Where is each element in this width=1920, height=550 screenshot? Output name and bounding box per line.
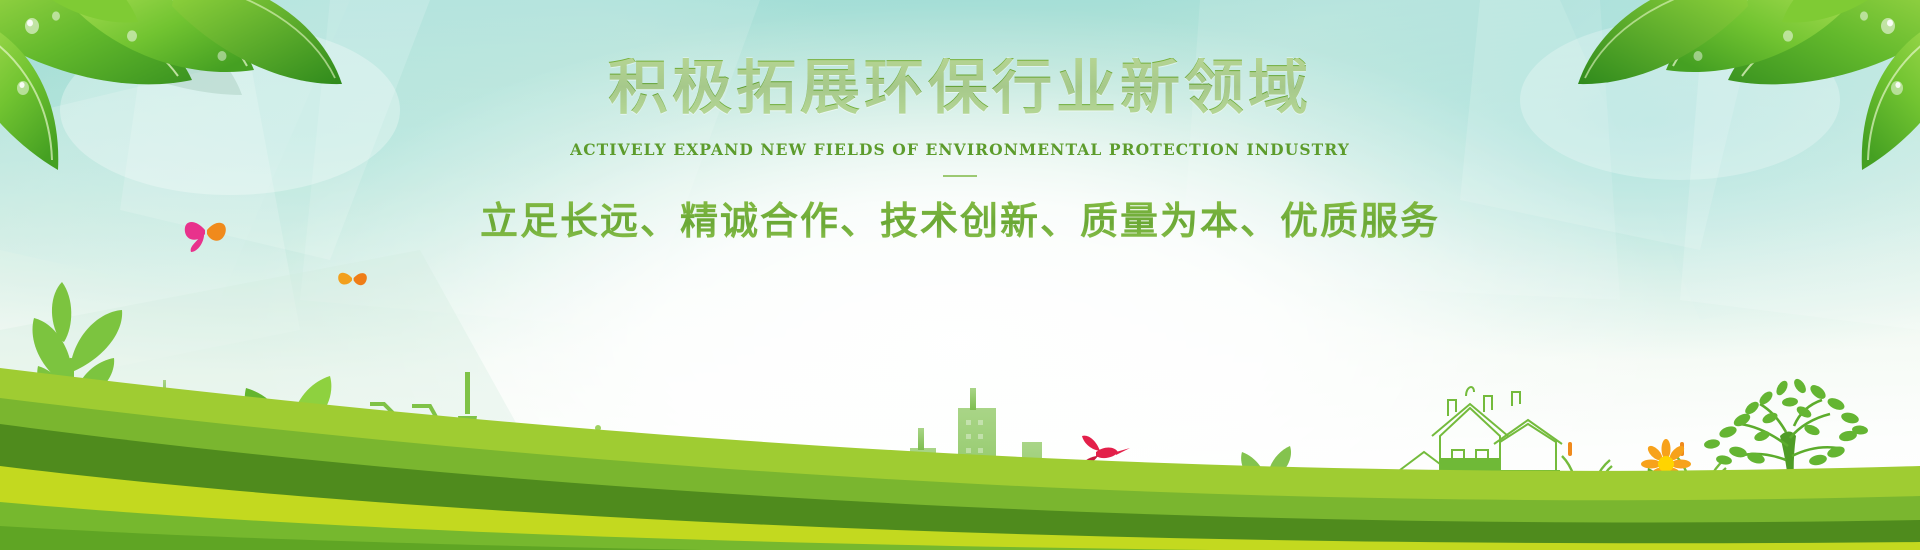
wave-band-dark-green: [0, 424, 1920, 550]
city-skyline-silhouette: [1130, 482, 1400, 550]
building-window-icon: [916, 420, 983, 479]
city-skyline-silhouette: [736, 388, 1130, 550]
tree-icon: [1703, 377, 1868, 512]
banner-text-block: 积极拓展环保行业新领域 ACTIVELY EXPAND NEW FIELDS O…: [0, 0, 1920, 243]
grass-icon: [1562, 456, 1726, 512]
cattail-icon: [1568, 442, 1684, 456]
oriental-pearl-tower-icon: [446, 372, 490, 550]
ladybug-icon: [819, 527, 835, 538]
scenery-layer: [0, 220, 1920, 550]
flower-icon: [700, 513, 724, 550]
wave-band-yellow-green: [0, 466, 1920, 550]
wave-band-light-green: [0, 368, 1920, 550]
wave-band-base-green: [0, 502, 1920, 550]
wave-band-bottom: [0, 526, 1920, 550]
butterfly-icon: [338, 273, 367, 285]
house-icon: [1400, 387, 1600, 510]
grass-icon: [86, 452, 150, 520]
sprout-icon: [33, 282, 123, 520]
flower-icon: [676, 505, 700, 529]
banner-headline: 积极拓展环保行业新领域: [0, 58, 1920, 118]
sprout-icon: [1241, 446, 1291, 520]
wave-band-mid-green: [0, 398, 1920, 550]
grass-icon: [543, 425, 629, 550]
city-skyline-silhouette: [1606, 486, 1698, 510]
wave-bands: [0, 320, 1920, 550]
grass-icon: [188, 434, 227, 520]
flower-icon: [1616, 489, 1634, 508]
city-skyline-silhouette: [492, 468, 618, 550]
headline-divider: [943, 175, 977, 177]
sunflower-icon: [1641, 439, 1691, 512]
bicycle-icon: [330, 404, 486, 506]
sprout-icon: [245, 376, 332, 520]
eco-banner: 积极拓展环保行业新领域 ACTIVELY EXPAND NEW FIELDS O…: [0, 0, 1920, 550]
banner-tagline: 立足长远、精诚合作、技术创新、质量为本、优质服务: [0, 199, 1920, 243]
city-skyline-silhouette: [118, 380, 270, 520]
hummingbird-icon: [1080, 436, 1130, 467]
banner-subheadline-english: ACTIVELY EXPAND NEW FIELDS OF ENVIRONMEN…: [0, 140, 1920, 159]
